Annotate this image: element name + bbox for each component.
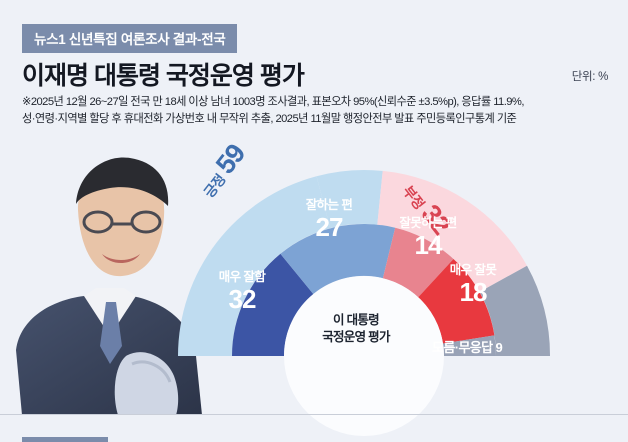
gauge-center-label: 이 대통령 국정운영 평가 xyxy=(298,312,414,345)
center-label-line-2: 국정운영 평가 xyxy=(298,329,414,346)
methodology-line-2: 성·연령·지역별 할당 후 휴대전화 가상번호 내 무작위 추출, 2025년 … xyxy=(22,111,622,128)
kicker-badge: 뉴스1 신년특집 여론조사 결과-전국 xyxy=(22,24,237,53)
footer-accent-bar xyxy=(22,437,108,442)
methodology-line-1: ※2025년 12월 26~27일 전국 만 18세 이상 남녀 1003명 조… xyxy=(22,94,622,111)
gauge-center-hole xyxy=(284,276,444,436)
footer-divider xyxy=(0,414,628,415)
unit-label: 단위: % xyxy=(572,68,608,84)
page-title: 이재명 대통령 국정운영 평가 xyxy=(22,56,304,92)
segment-label-dontknow: 모름·무응답 9 xyxy=(432,337,502,356)
methodology-note: ※2025년 12월 26~27일 전국 만 18세 이상 남녀 1003명 조… xyxy=(22,94,622,127)
center-label-line-1: 이 대통령 xyxy=(298,312,414,329)
infographic-page: 뉴스1 신년특집 여론조사 결과-전국 이재명 대통령 국정운영 평가 단위: … xyxy=(0,0,628,442)
